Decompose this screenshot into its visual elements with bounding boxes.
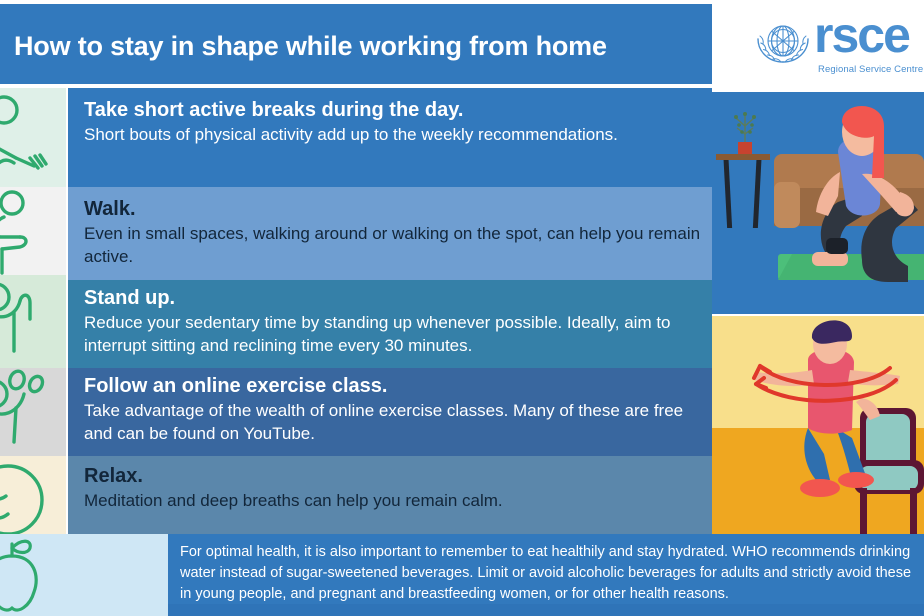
person-stretching-icon xyxy=(0,88,66,187)
icon-cell-standing xyxy=(0,275,66,368)
person-exercising-icon xyxy=(0,368,66,456)
apple-icon xyxy=(0,534,82,616)
icon-cell-stretching xyxy=(0,88,66,187)
tip-title: Follow an online exercise class. xyxy=(84,374,387,398)
rsce-logo: rsce Regional Service Centre Entebbe xyxy=(752,8,924,82)
footer-text: For optimal health, it is also important… xyxy=(180,542,914,605)
un-emblem-icon xyxy=(752,12,814,74)
tip-title: Relax. xyxy=(84,464,143,488)
tip-row-relax: Relax. Meditation and deep breaths can h… xyxy=(68,456,712,534)
tip-body: Short bouts of physical activity add up … xyxy=(84,124,704,147)
logo-tagline: Regional Service Centre Entebbe xyxy=(818,64,924,75)
logo-wordmark: rsce xyxy=(814,10,909,60)
calm-face-icon xyxy=(0,456,66,544)
tip-row-online-class: Follow an online exercise class. Take ad… xyxy=(68,368,712,456)
tip-body: Reduce your sedentary time by standing u… xyxy=(84,312,704,357)
infographic-poster: How to stay in shape while working from … xyxy=(0,0,924,616)
tip-body: Take advantage of the wealth of online e… xyxy=(84,400,704,445)
tip-row-stand-up: Stand up. Reduce your sedentary time by … xyxy=(68,280,712,368)
tip-title: Stand up. xyxy=(84,286,175,310)
icon-cell-apple xyxy=(0,534,168,616)
icon-cell-relax xyxy=(0,456,66,544)
tip-body: Even in small spaces, walking around or … xyxy=(84,223,704,268)
photo-person-exercising-with-chair xyxy=(712,316,924,534)
tip-title: Walk. xyxy=(84,197,136,221)
tip-body: Meditation and deep breaths can help you… xyxy=(84,490,704,513)
icon-cell-walking xyxy=(0,187,66,275)
page-title: How to stay in shape while working from … xyxy=(14,30,704,62)
tip-title: Take short active breaks during the day. xyxy=(84,98,463,122)
icon-cell-exercise-class xyxy=(0,368,66,456)
person-standing-stretch-icon xyxy=(0,275,66,368)
photo-woman-stretching-living-room xyxy=(712,92,924,314)
tip-row-breaks: Take short active breaks during the day.… xyxy=(68,88,712,187)
person-walking-icon xyxy=(0,187,66,275)
tip-row-walk: Walk. Even in small spaces, walking arou… xyxy=(68,187,712,280)
footer-bottom-strip xyxy=(168,604,924,616)
header: How to stay in shape while working from … xyxy=(0,0,924,88)
